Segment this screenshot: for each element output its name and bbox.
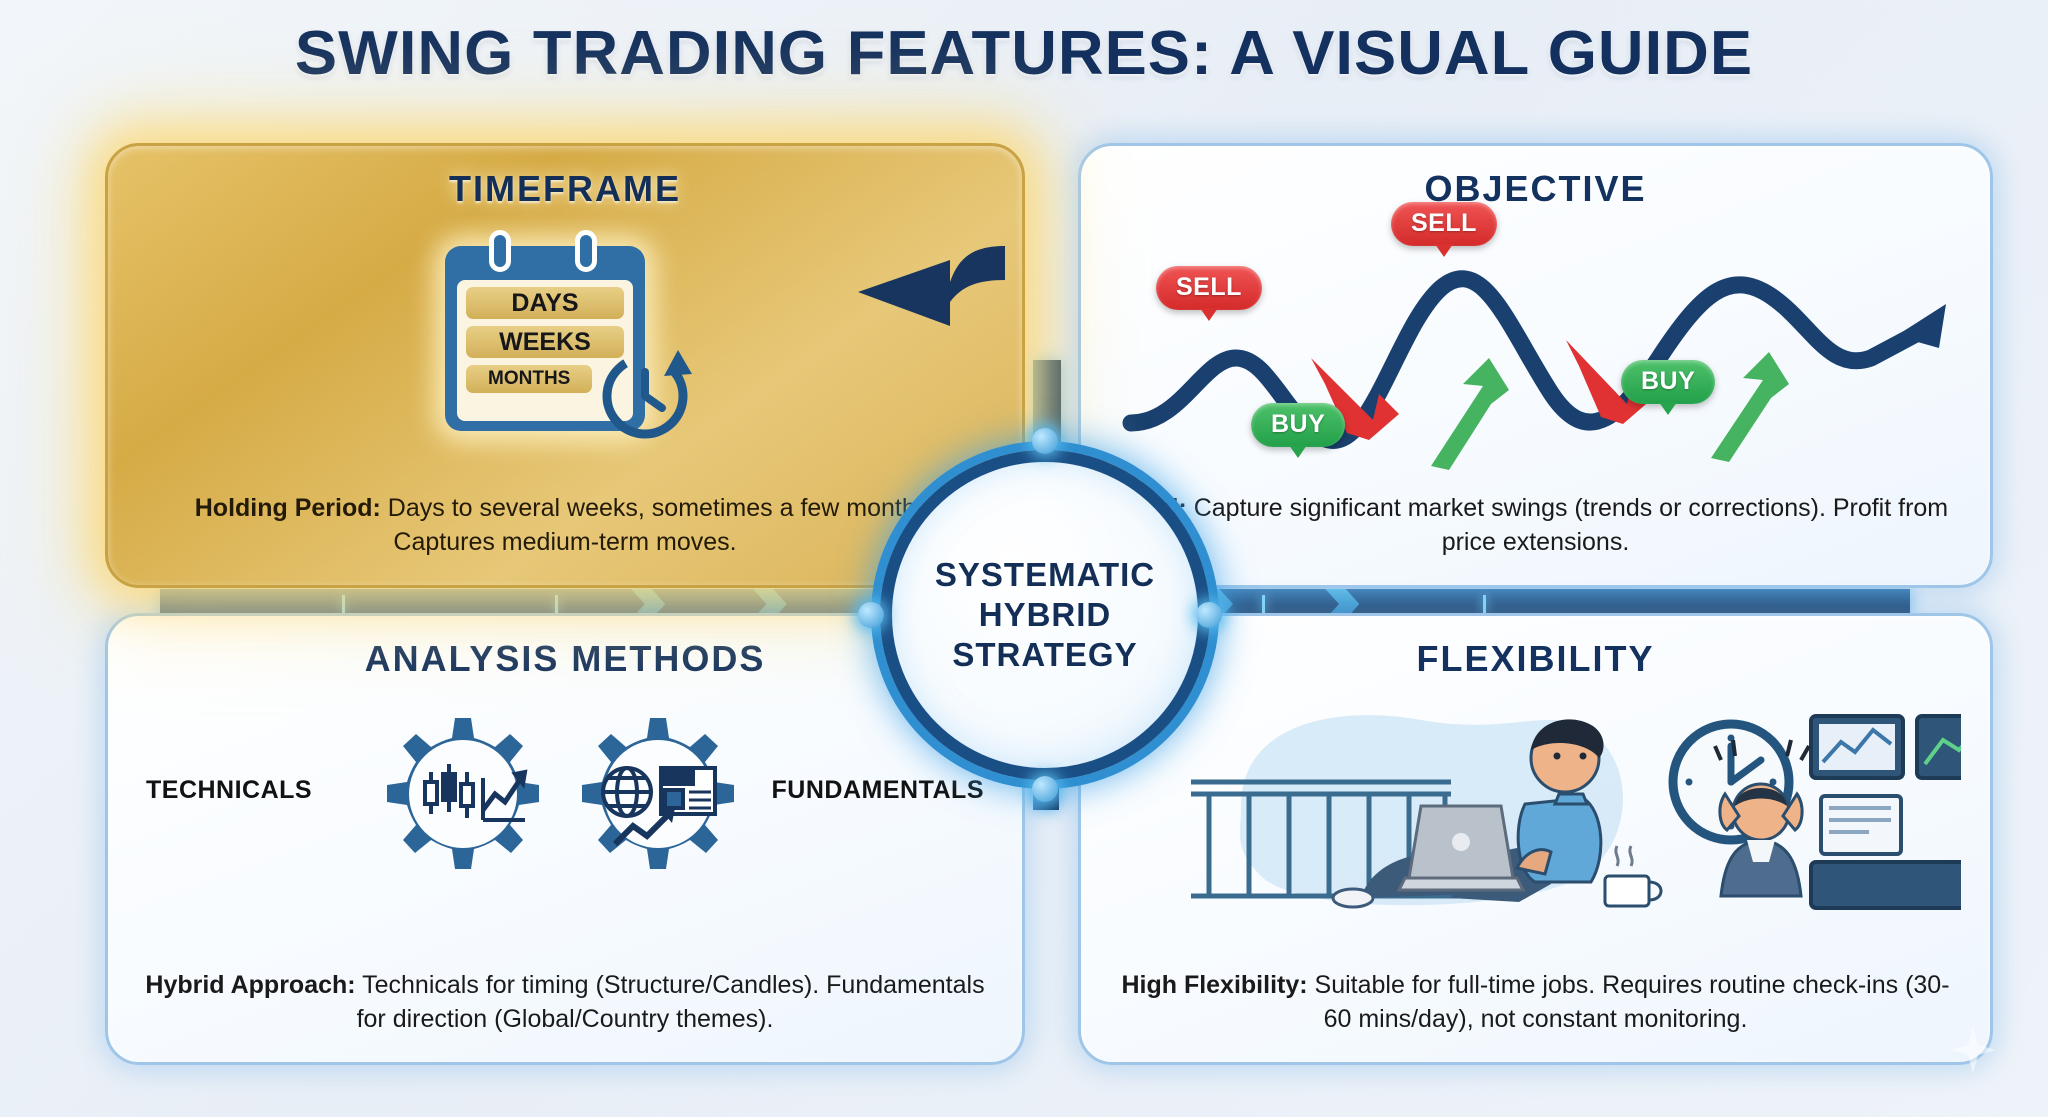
- panel-timeframe[interactable]: TIMEFRAME DAYS WEEKS MONTHS Holding Peri…: [105, 143, 1025, 588]
- hub-node-left: [858, 602, 884, 628]
- panel-timeframe-body: Holding Period: Days to several weeks, s…: [142, 492, 988, 559]
- hub-node-bottom: [1032, 776, 1058, 802]
- label-technicals: TECHNICALS: [146, 776, 312, 805]
- calendar-ring-icon: [575, 230, 597, 272]
- sparkle-icon: [1950, 1027, 1996, 1073]
- panel-flexibility-body-text: Suitable for full-time jobs. Requires ro…: [1308, 971, 1950, 1033]
- page-title: SWING TRADING FEATURES: A VISUAL GUIDE: [0, 18, 2048, 89]
- panel-timeframe-body-text: Days to several weeks, sometimes a few m…: [381, 494, 935, 556]
- label-fundamentals: FUNDAMENTALS: [772, 776, 984, 805]
- panel-objective[interactable]: OBJECTIVE SELL SELL BUY BUY: [1078, 143, 1993, 588]
- panel-objective-heading: OBJECTIVE: [1081, 168, 1990, 210]
- center-hub-text: SYSTEMATIC HYBRID STRATEGY: [935, 555, 1155, 676]
- badge-sell: SELL: [1156, 266, 1262, 310]
- badge-buy: BUY: [1251, 403, 1345, 447]
- price-swing-chart: SELL SELL BUY BUY: [1111, 208, 1966, 508]
- center-hub[interactable]: SYSTEMATIC HYBRID STRATEGY: [880, 450, 1210, 780]
- panel-objective-body-text: Capture significant market swings (trend…: [1187, 494, 1948, 556]
- panel-flexibility-heading: FLEXIBILITY: [1081, 638, 1990, 680]
- calendar-row-months: MONTHS: [466, 365, 592, 393]
- flow-arrow-icon: [850, 230, 1010, 350]
- infographic-canvas: SWING TRADING FEATURES: A VISUAL GUIDE T…: [0, 0, 2048, 1117]
- panel-timeframe-heading: TIMEFRAME: [108, 168, 1022, 210]
- calendar-row-days: DAYS: [466, 287, 624, 319]
- hub-line-3: STRATEGY: [935, 635, 1155, 675]
- panel-flexibility-body-label: High Flexibility:: [1121, 971, 1307, 999]
- coffee-cup-icon: [1605, 846, 1661, 906]
- flexibility-illustration: [1121, 686, 1961, 936]
- clock-refresh-icon: [590, 334, 700, 444]
- badge-sell: SELL: [1391, 202, 1497, 246]
- panel-analysis[interactable]: ANALYSIS METHODS TECHNICALS FUNDAMENTALS: [105, 613, 1025, 1065]
- badge-buy: BUY: [1621, 360, 1715, 404]
- calendar-ring-icon: [489, 230, 511, 272]
- panel-analysis-body-label: Hybrid Approach:: [145, 971, 355, 999]
- hub-line-1: SYSTEMATIC: [935, 555, 1155, 595]
- hub-node-right: [1196, 602, 1222, 628]
- panel-timeframe-body-label: Holding Period:: [195, 494, 381, 522]
- panel-analysis-body-text: Technicals for timing (Structure/Candles…: [356, 971, 985, 1033]
- panel-objective-body: Goal: Capture significant market swings …: [1115, 492, 1956, 559]
- calendar-clock-illustration: DAYS WEEKS MONTHS: [415, 224, 715, 454]
- hub-node-top: [1032, 428, 1058, 454]
- panel-analysis-body: Hybrid Approach: Technicals for timing (…: [142, 969, 988, 1036]
- gears-illustration: [365, 694, 765, 909]
- panel-flexibility[interactable]: FLEXIBILITY: [1078, 613, 1993, 1065]
- hub-line-2: HYBRID: [935, 595, 1155, 635]
- panel-flexibility-body: High Flexibility: Suitable for full-time…: [1115, 969, 1956, 1036]
